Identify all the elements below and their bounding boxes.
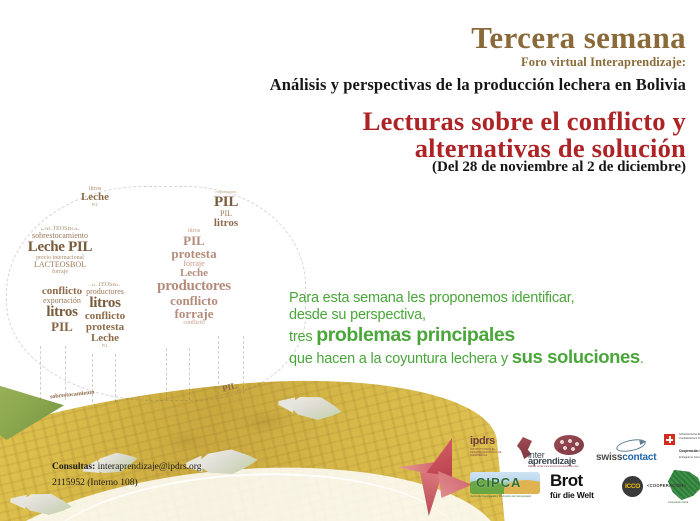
icco-circle-icon: ICCO [622,476,643,497]
body-copy-line4: que hacen a la coyuntura lechera y sus s… [289,346,689,368]
contact-label: Consultas: [52,462,95,472]
contact-email[interactable]: interaprendizaje@ipdrs.org [98,462,202,472]
wordcloud-cluster-lower: conflicto exportación litros PIL [22,286,102,352]
wordcloud-cluster-ear: litros Leche PIL [64,186,126,220]
cloud-word: litros [192,218,260,229]
pink-star-bird-shape [396,438,476,514]
logo-map-caption: Cooperación Suiza [668,501,688,504]
logo-sdc-embassy: Embajada de Suiza [679,456,700,459]
cloud-word: forraje [124,307,264,320]
body-copy-line3-strong: problemas principales [316,324,515,346]
body-copy-line3-pre: tres [289,329,316,345]
logo-icco: ICCO <COOPERACIÓN> [622,476,700,500]
logo-icco-mark: ICCO [625,483,640,490]
wordcloud-cluster-head: LACTEOSBOL sobrestocamiento Leche PIL pr… [12,226,108,292]
poster-canvas: litros Leche PIL exportación PIL PIL lit… [0,0,700,521]
cow-leg [40,346,66,400]
page-title-line1: Lecturas sobre el conflicto y [363,106,686,136]
contact-email-line: Consultas: interaprendizaje@ipdrs.org [52,459,201,475]
body-copy-line4-pre: que hacen a la coyuntura lechera y [289,351,512,367]
bubble-dots-icon [559,439,581,452]
logo-swisscontact-text: swisscontact [596,452,656,463]
cloud-word: Leche PIL [12,240,108,255]
cloud-word: LACTEOSBOL [12,261,108,269]
logo-brot-line2: für die Welt [550,490,618,500]
cow-leg [166,348,190,400]
logo-cipca-word: CIPCA [476,475,521,490]
fish-icon [195,446,259,478]
page-title: Lecturas sobre el conflicto y alternativ… [26,108,686,162]
logo-cipca: CIPCA Centro de Investigación y Promoció… [470,472,544,504]
body-copy-line1: Para esta semana les proponemos identifi… [289,290,689,307]
logo-brot-fuer-die-welt: Brot für die Welt [550,472,618,504]
logo-strip: ipdrs INSTITUTO PARA EL DESARROLLO RURAL… [468,432,696,514]
logo-ipdrs-subtitle: INSTITUTO PARA EL DESARROLLO RURAL DE SU… [470,448,512,458]
cow-leg [92,354,116,402]
cloud-word: PIL [192,195,260,210]
fish-body [195,446,259,478]
wordcloud-cow-illustration: litros Leche PIL exportación PIL PIL lit… [6,186,306,401]
logo-sdc-confederation: Schweizerische Eidgenossenschaft Confédé… [679,433,700,441]
cloud-word: productores [124,279,264,294]
date-range: (Del 28 de noviembre al 2 de diciembre) [26,159,686,176]
logo-inter-tagline: Diálogo virtual entre actores del desarr… [528,465,588,468]
forum-label: Foro virtual Interaprendizaje: [26,55,686,70]
contact-block: Consultas: interaprendizaje@ipdrs.org 21… [52,459,201,491]
logo-swisscontact-word1: swiss [596,452,622,463]
logo-icco-word-text: COOPERACIÓN [650,483,684,488]
logo-icco-word: <COOPERACIÓN> [647,483,686,488]
logo-brot-line1: Brot [550,472,618,489]
body-copy-line4-strong: sus soluciones [512,346,640,367]
wordcloud-cluster-body: litros PIL protesta forraje Leche produc… [124,228,264,352]
logo-sdc-coop: Cooperación Suiza en Bolivia [679,449,700,453]
cloud-word: PIL [22,320,102,333]
header-block: Tercera semana Foro virtual Interaprendi… [26,22,686,95]
logo-cipca-caption: Centro de Investigación y Promoción del … [470,495,542,498]
page-title-line2: alternativas de solución [26,135,686,162]
cloud-word: PIL [64,203,126,208]
swiss-flag-icon [664,434,675,445]
contact-phone: 2115952 (Interno 108) [52,475,201,491]
logo-ipdrs: ipdrs INSTITUTO PARA EL DESARROLLO RURAL… [470,436,532,466]
body-copy-line3: tres problemas principales [289,324,689,347]
logo-swisscontact: swisscontact [596,442,674,466]
kicker-tercera-semana: Tercera semana [26,22,686,53]
body-copy-line4-post: . [640,351,644,367]
star-petal [420,472,442,516]
cloud-word: forraje [12,269,108,275]
logo-interaprendizaje: inter aprendizaje Diálogo virtual entre … [528,436,594,466]
cloud-word: litros [22,305,102,320]
logo-swisscontact-word2: contact [622,452,656,463]
body-copy-line2: desde su perspectiva, [289,307,689,324]
body-copy: Para esta semana les proponemos identifi… [289,290,689,368]
cloud-word: conflicto [124,320,264,326]
page-subtitle: Análisis y perspectivas de la producción… [26,75,686,95]
